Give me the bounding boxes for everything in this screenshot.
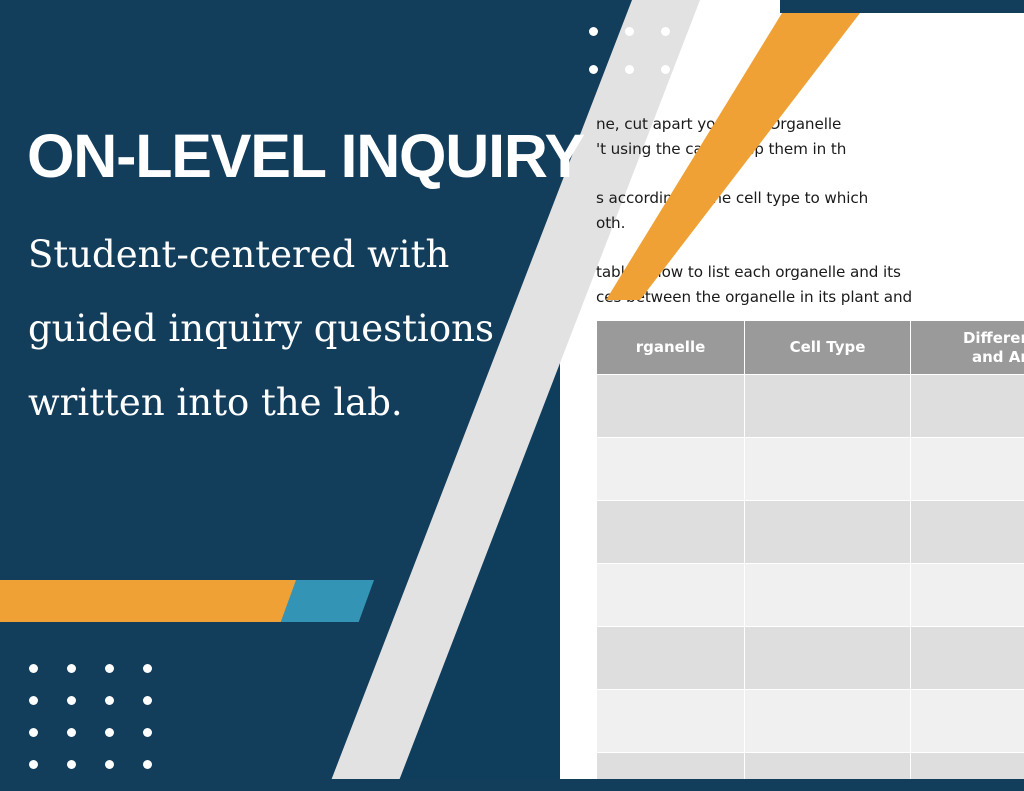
header-cell-type-line1: Cell Type	[790, 338, 866, 356]
dot	[105, 760, 114, 769]
table-cell[interactable]	[911, 627, 1024, 690]
doc-p3-line1: table below to list each organelle and i…	[596, 263, 901, 281]
slide-canvas: ne, cut apart your Cell Organelle 't usi…	[0, 0, 1024, 791]
dot	[67, 696, 76, 705]
table-cell[interactable]	[597, 438, 745, 501]
document-paragraph-1: ne, cut apart your Cell Organelle 't usi…	[596, 112, 1024, 162]
dot	[589, 27, 598, 36]
table-cell[interactable]	[597, 501, 745, 564]
table-cell[interactable]	[911, 564, 1024, 627]
table-row[interactable]	[597, 501, 1024, 564]
table-cell[interactable]	[911, 375, 1024, 438]
dot	[143, 664, 152, 673]
dot	[105, 664, 114, 673]
doc-p3-line2: ces between the organelle in its plant a…	[596, 288, 912, 306]
dot	[67, 664, 76, 673]
document-top-navy-strip	[780, 0, 1024, 13]
dot	[661, 65, 670, 74]
doc-p2-line2: oth.	[596, 214, 625, 232]
dot	[29, 696, 38, 705]
header-organelle-line1: rganelle	[636, 338, 706, 356]
document-paragraph-3: table below to list each organelle and i…	[596, 260, 1024, 310]
dot	[29, 760, 38, 769]
table-row[interactable]	[597, 438, 1024, 501]
dot	[697, 27, 706, 36]
table-cell[interactable]	[745, 564, 911, 627]
dot	[143, 696, 152, 705]
table-cell[interactable]	[597, 690, 745, 753]
dot	[67, 728, 76, 737]
document-body-text: ne, cut apart your Cell Organelle 't usi…	[596, 112, 1024, 334]
doc-p1-line2: 't using the card, keep them in th	[596, 140, 846, 158]
table-cell[interactable]	[597, 564, 745, 627]
document-bottom-navy-strip	[0, 779, 1024, 791]
dot-grid-bottom	[14, 652, 166, 780]
doc-p2-line1: s according to the cell type to which	[596, 189, 868, 207]
table-cell[interactable]	[597, 375, 745, 438]
table-cell[interactable]	[911, 690, 1024, 753]
doc-p1-line1: ne, cut apart your Cell Organelle	[596, 115, 841, 133]
dot	[67, 760, 76, 769]
dot	[661, 27, 670, 36]
table-row[interactable]	[597, 627, 1024, 690]
dot	[29, 664, 38, 673]
dot	[143, 760, 152, 769]
dot	[105, 728, 114, 737]
table-header-organelle: rganelle	[597, 321, 745, 375]
dot	[625, 65, 634, 74]
table-cell[interactable]	[745, 375, 911, 438]
table-row[interactable]	[597, 564, 1024, 627]
header-differences-line1: Differenc	[963, 329, 1024, 347]
header-differences-line2: and An	[972, 348, 1024, 366]
table-row[interactable]	[597, 375, 1024, 438]
dot	[625, 27, 634, 36]
table-cell[interactable]	[911, 438, 1024, 501]
table-cell[interactable]	[745, 690, 911, 753]
table-header-differences: Differenc and An	[911, 321, 1024, 375]
table-row[interactable]	[597, 690, 1024, 753]
table-cell[interactable]	[745, 627, 911, 690]
blue-ribbon-bar	[281, 580, 374, 622]
table-header-cell-type: Cell Type	[745, 321, 911, 375]
table-cell[interactable]	[597, 627, 745, 690]
page-subtitle: Student-centered with guided inquiry que…	[28, 218, 548, 440]
dot	[143, 728, 152, 737]
orange-ribbon-bar	[0, 580, 308, 622]
table-cell[interactable]	[745, 438, 911, 501]
dot	[589, 65, 598, 74]
table-body	[597, 375, 1024, 791]
dot-grid-top	[575, 12, 719, 88]
document-paragraph-2: s according to the cell type to which ot…	[596, 186, 1024, 236]
dot	[697, 65, 706, 74]
table-cell[interactable]	[911, 501, 1024, 564]
dot	[29, 728, 38, 737]
dot	[105, 696, 114, 705]
table-cell[interactable]	[745, 501, 911, 564]
page-title: ON-LEVEL INQUIRY	[27, 124, 584, 188]
organelle-table: rganelle Cell Type Differenc and An	[596, 320, 1024, 791]
table-header-row: rganelle Cell Type Differenc and An	[597, 321, 1024, 375]
